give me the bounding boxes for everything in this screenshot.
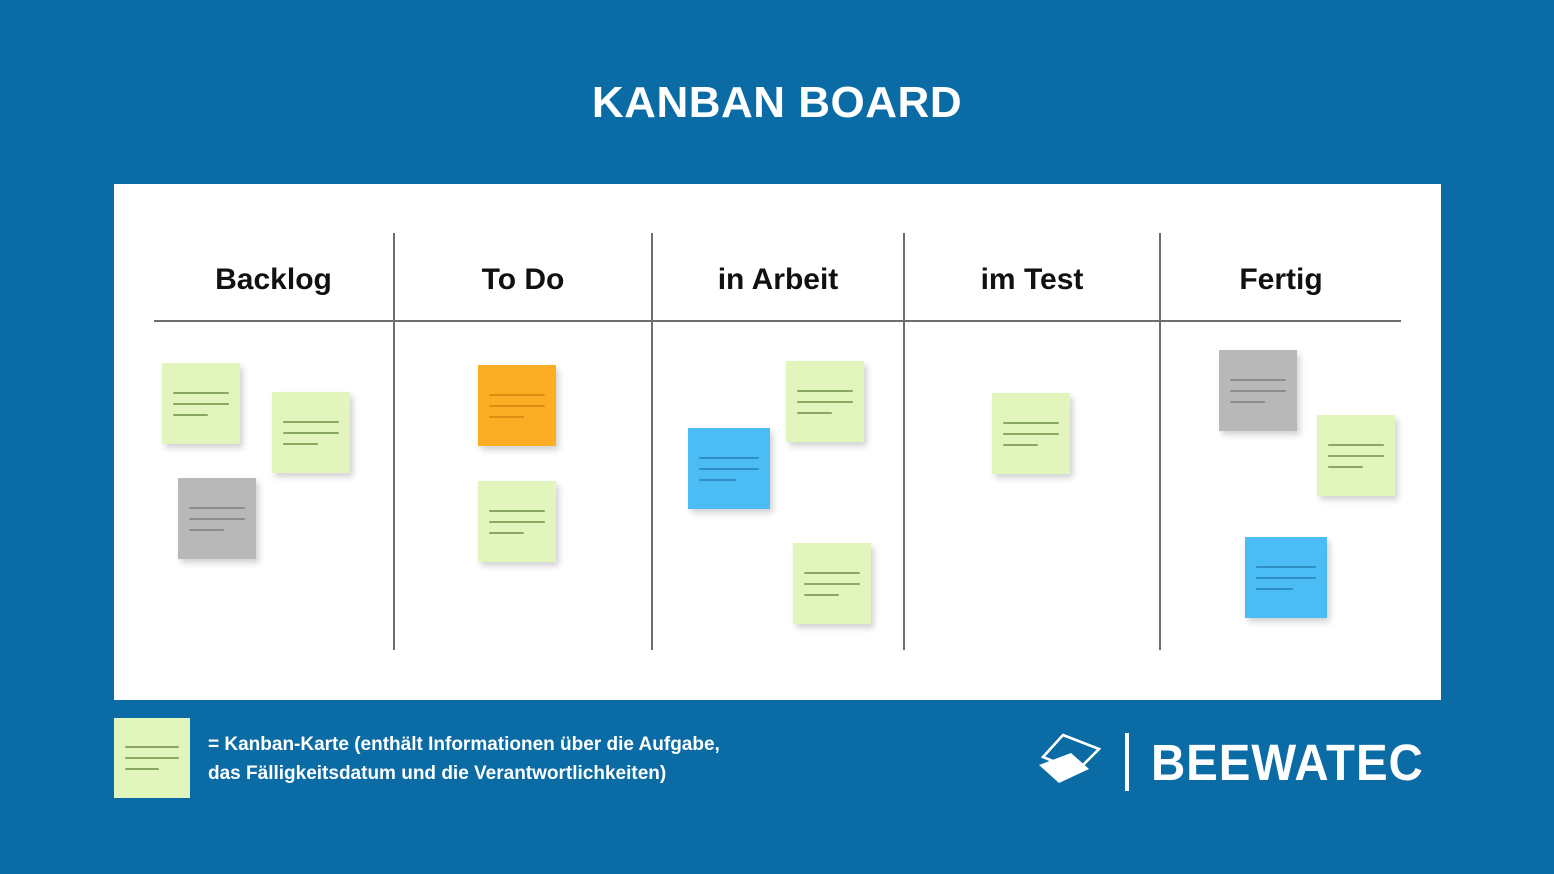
card-line-3 [489, 416, 524, 418]
column-header-in-arbeit: in Arbeit [653, 263, 903, 297]
card-line-3 [1003, 444, 1038, 446]
card-text-lines [699, 457, 758, 481]
card-line-1 [189, 507, 245, 509]
column-header-fertig: Fertig [1161, 263, 1401, 297]
card-line-3 [699, 479, 736, 481]
beewatec-logo: BEEWATEC [1037, 722, 1444, 802]
kanban-card-in-arbeit-3[interactable] [793, 543, 871, 624]
card-line-3 [489, 532, 524, 534]
card-line-2 [489, 405, 545, 407]
kanban-card-to-do-1[interactable] [478, 365, 556, 446]
card-line-2 [804, 583, 860, 585]
kanban-card-backlog-1[interactable] [162, 363, 240, 444]
card-line-1 [1256, 566, 1315, 568]
card-line-3 [804, 594, 839, 596]
kanban-card-fertig-2[interactable] [1317, 415, 1395, 496]
legend: = Kanban-Karte (enthält Informationen üb… [114, 718, 720, 798]
card-line-1 [797, 390, 853, 392]
card-text-lines [1230, 379, 1286, 403]
card-text-lines [189, 507, 245, 531]
logo-divider [1125, 733, 1129, 791]
card-text-lines [173, 392, 229, 416]
card-text-lines [1256, 566, 1315, 590]
card-line-2 [1003, 433, 1059, 435]
card-line-2 [189, 518, 245, 520]
card-line-1 [125, 746, 180, 748]
card-text-lines [1003, 422, 1059, 446]
card-line-3 [1328, 466, 1363, 468]
card-text-lines [489, 394, 545, 418]
card-text-lines [1328, 444, 1384, 468]
card-line-3 [797, 412, 832, 414]
kanban-card-im-test-1[interactable] [992, 393, 1070, 474]
card-line-1 [489, 510, 545, 512]
card-text-lines [125, 746, 180, 770]
kanban-card-fertig-3[interactable] [1245, 537, 1327, 618]
beewatec-mark-icon [1037, 731, 1101, 793]
column-header-to-do: To Do [395, 263, 651, 297]
card-line-1 [489, 394, 545, 396]
kanban-card-in-arbeit-1[interactable] [786, 361, 864, 442]
card-line-2 [125, 757, 180, 759]
card-line-1 [173, 392, 229, 394]
card-line-3 [1256, 588, 1293, 590]
kanban-card-fertig-1[interactable] [1219, 350, 1297, 431]
card-line-2 [283, 432, 339, 434]
card-text-lines [804, 572, 860, 596]
column-header-im-test: im Test [905, 263, 1159, 297]
card-line-3 [125, 768, 159, 770]
kanban-card-in-arbeit-2[interactable] [688, 428, 770, 509]
card-line-1 [804, 572, 860, 574]
kanban-card-backlog-3[interactable] [178, 478, 256, 559]
card-text-lines [489, 510, 545, 534]
card-line-3 [173, 414, 208, 416]
card-text-lines [797, 390, 853, 414]
card-line-1 [1230, 379, 1286, 381]
kanban-card-backlog-2[interactable] [272, 392, 350, 473]
page-title: KANBAN BOARD [0, 78, 1554, 128]
kanban-board: BacklogTo Doin Arbeitim TestFertig [114, 184, 1441, 700]
card-line-2 [173, 403, 229, 405]
card-line-2 [699, 468, 758, 470]
card-line-2 [1256, 577, 1315, 579]
header-rule [154, 320, 1401, 322]
card-line-2 [489, 521, 545, 523]
card-line-2 [797, 401, 853, 403]
legend-card-swatch [114, 718, 190, 798]
card-line-1 [1328, 444, 1384, 446]
legend-text-line-2: das Fälligkeitsdatum und die Verantwortl… [208, 760, 720, 789]
logo-wordmark: BEEWATEC [1151, 737, 1424, 788]
card-line-2 [1328, 455, 1384, 457]
card-text-lines [283, 421, 339, 445]
card-line-1 [283, 421, 339, 423]
kanban-card-to-do-2[interactable] [478, 481, 556, 562]
card-line-1 [1003, 422, 1059, 424]
legend-swatch-card [114, 718, 190, 798]
card-line-1 [699, 457, 758, 459]
card-line-3 [189, 529, 224, 531]
legend-text-line-1: = Kanban-Karte (enthält Informationen üb… [208, 731, 720, 760]
legend-text: = Kanban-Karte (enthält Informationen üb… [208, 731, 720, 788]
card-line-2 [1230, 390, 1286, 392]
card-line-3 [283, 443, 318, 445]
column-header-backlog: Backlog [154, 263, 393, 297]
card-line-3 [1230, 401, 1265, 403]
